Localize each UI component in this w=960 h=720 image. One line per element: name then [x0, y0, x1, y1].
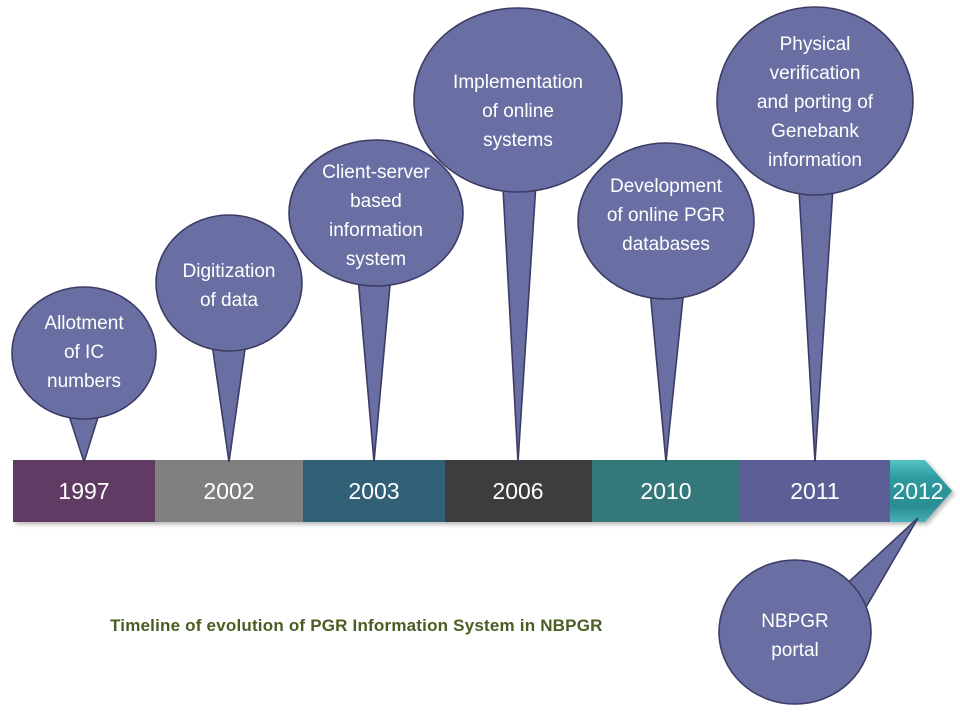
callout-2010-tail [650, 288, 684, 462]
callout-2006-line-3: systems [483, 130, 553, 151]
year-label-2011: 2011 [790, 478, 839, 504]
callout-2011-line-2: verification [770, 63, 861, 84]
callout-2011-line-5: information [768, 150, 862, 171]
callout-2003-tail [357, 263, 392, 462]
year-label-2012: 2012 [892, 478, 943, 504]
callout-1997-line-3: numbers [47, 371, 121, 392]
callout-2003-line-4: system [346, 249, 406, 270]
callout-1997-line-2: of IC [64, 342, 104, 363]
figure-caption: Timeline of evolution of PGR Information… [110, 616, 603, 635]
callout-2010-line-1: Development [610, 176, 723, 197]
callout-2010-line-2: of online PGR [607, 205, 725, 226]
callout-2002[interactable]: Digitization of data [156, 215, 302, 462]
callout-2011-line-3: and porting of [757, 92, 874, 113]
year-label-2006: 2006 [492, 478, 543, 504]
year-label-1997: 1997 [58, 478, 109, 504]
callout-2006-bubble[interactable] [414, 8, 622, 192]
year-label-2010: 2010 [640, 478, 691, 504]
callout-2002-line-2: of data [200, 290, 259, 311]
year-label-2003: 2003 [348, 478, 399, 504]
callout-2006-tail [502, 168, 537, 462]
callout-2002-line-1: Digitization [183, 261, 276, 282]
callout-2006-line-1: Implementation [453, 72, 583, 93]
callout-2011-line-4: Genebank [771, 121, 859, 142]
callout-2002-bubble[interactable] [156, 215, 302, 351]
year-label-2002: 2002 [203, 478, 254, 504]
callout-2012-line-1: NBPGR [761, 611, 829, 632]
timeline-diagram: 1997 2002 2003 2006 2010 2011 2012 Allot… [0, 0, 960, 720]
callout-2010[interactable]: Development of online PGR databases [578, 143, 754, 462]
callout-2003-line-1: Client-server [322, 162, 430, 183]
callout-1997[interactable]: Allotment of IC numbers [12, 287, 156, 462]
callout-2010-line-3: databases [622, 234, 710, 255]
timeline-figure: 1997 2002 2003 2006 2010 2011 2012 Allot… [0, 0, 960, 720]
callout-2011-tail [799, 188, 833, 462]
callout-2003-line-2: based [350, 191, 402, 212]
callout-2006-line-2: of online [482, 101, 554, 122]
callout-2011-line-1: Physical [780, 34, 851, 55]
callout-2003-line-3: information [329, 220, 423, 241]
callout-2003[interactable]: Client-server based information system [289, 140, 463, 462]
callout-1997-line-1: Allotment [44, 313, 124, 334]
callout-2012[interactable]: NBPGR portal [719, 518, 918, 704]
callout-2012-line-2: portal [771, 640, 819, 661]
